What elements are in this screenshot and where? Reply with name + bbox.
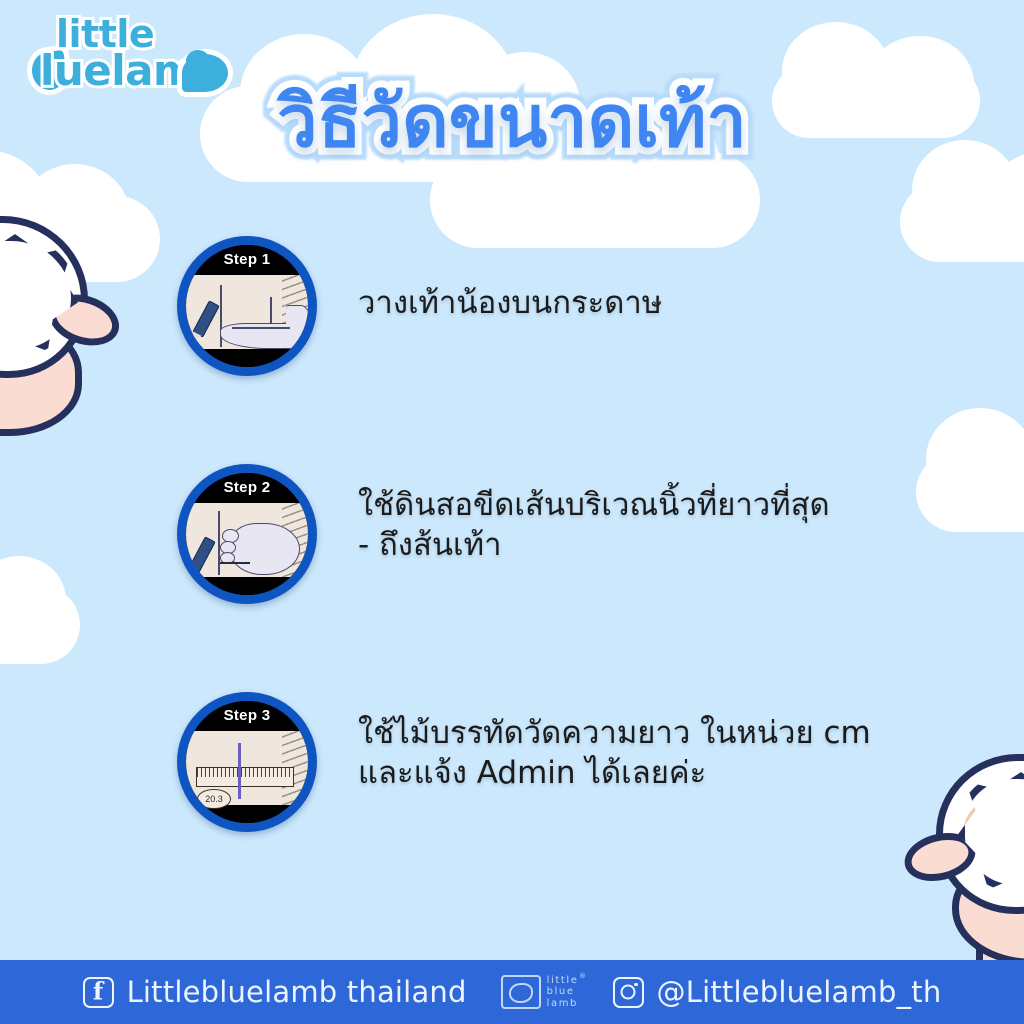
- thumbnail-frame: 20.3 Step 3: [186, 701, 308, 823]
- footer-bar: f Littlebluelamb thailand little blue la…: [0, 960, 1024, 1024]
- measurement-value: 20.3: [205, 794, 223, 804]
- foot-sole-outline-illustration: [186, 503, 308, 577]
- step-3-badge: Step 3: [186, 707, 308, 724]
- measurement-callout: 20.3: [197, 789, 231, 809]
- ruler-icon: [196, 767, 294, 787]
- instagram-link[interactable]: @Littlebluelamb_th: [613, 975, 942, 1009]
- pencil-icon: [192, 300, 219, 337]
- paper-surface: [186, 275, 308, 349]
- facebook-icon: f: [83, 977, 114, 1008]
- facebook-label: Littlebluelamb thailand: [127, 975, 467, 1009]
- step-1-thumbnail[interactable]: Step 1: [177, 236, 317, 376]
- ruler-measure-illustration: 20.3: [186, 731, 308, 805]
- step-row: Step 1 วางเท้าน้องบนกระดาษ: [0, 236, 1024, 464]
- instagram-label: @Littlebluelamb_th: [657, 975, 942, 1009]
- step-2-thumbnail[interactable]: Step 2: [177, 464, 317, 604]
- thumbnail-frame: Step 1: [186, 245, 308, 367]
- step-2-line-2: - ถึงส้นเท้า: [358, 526, 964, 566]
- registered-mark: ®: [579, 972, 588, 980]
- step-2-description: ใช้ดินสอขีดเส้นบริเวณนิ้วที่ยาวที่สุด - …: [358, 486, 964, 565]
- facebook-link[interactable]: f Littlebluelamb thailand: [83, 975, 467, 1009]
- footer-brand-word1: little: [547, 975, 579, 987]
- page-title: วิธีวัดขนาดเท้า: [0, 84, 1024, 160]
- step-1-badge: Step 1: [186, 251, 308, 268]
- thumbnail-frame: Step 2: [186, 473, 308, 595]
- step-3-line-2: และแจ้ง Admin ได้เลยค่ะ: [358, 754, 964, 794]
- step-3-line-1: ใช้ไม้บรรทัดวัดความยาว ในหน่วย cm: [358, 714, 964, 754]
- foot-side-view-illustration: [186, 275, 308, 349]
- footer-brand-logo: little blue lamb ®: [501, 975, 579, 1010]
- footer-brand-word2: blue: [547, 986, 579, 998]
- steps-list: Step 1 วางเท้าน้องบนกระดาษ: [0, 236, 1024, 920]
- pencil-icon: [188, 536, 215, 573]
- poster-canvas: little luelam วิธีวัดขนาดเท้า วิธีวัดขนา…: [0, 0, 1024, 1024]
- instagram-icon: [613, 977, 644, 1008]
- measure-line: [238, 743, 241, 799]
- paper-surface: 20.3: [186, 731, 308, 805]
- step-1-description: วางเท้าน้องบนกระดาษ: [358, 284, 964, 324]
- step-2-line-1: ใช้ดินสอขีดเส้นบริเวณนิ้วที่ยาวที่สุด: [358, 486, 964, 526]
- step-1-line-1: วางเท้าน้องบนกระดาษ: [358, 284, 964, 324]
- step-2-badge: Step 2: [186, 479, 308, 496]
- step-row: Step 2 ใช้ดินสอขีดเส้นบริเวณนิ้วที่ยาวที…: [0, 464, 1024, 692]
- paper-surface: [186, 503, 308, 577]
- footer-brand-word3: lamb: [547, 998, 579, 1010]
- footer-brand-words: little blue lamb ®: [547, 975, 579, 1010]
- step-row: 20.3 Step 3 ใช้ไม้บรรทัดวัดความยาว ในหน่…: [0, 692, 1024, 920]
- lamb-mark-icon: [501, 975, 541, 1009]
- step-3-description: ใช้ไม้บรรทัดวัดความยาว ในหน่วย cm และแจ้…: [358, 714, 964, 793]
- step-3-thumbnail[interactable]: 20.3 Step 3: [177, 692, 317, 832]
